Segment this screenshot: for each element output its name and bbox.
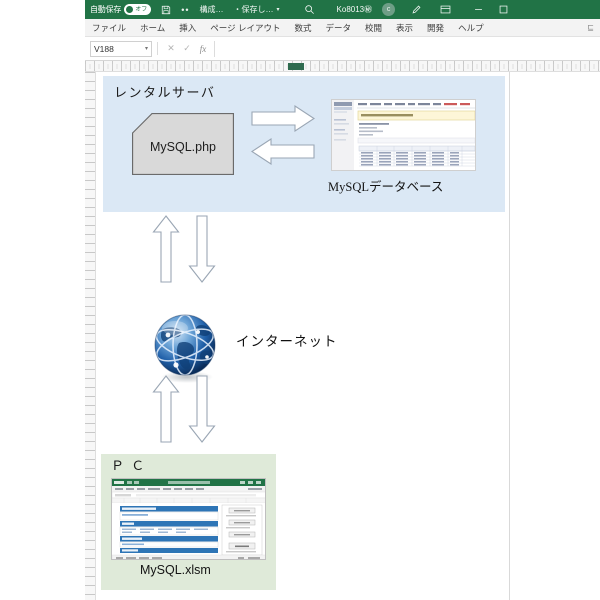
vertical-ruler[interactable]	[85, 72, 96, 600]
mysql-xlsm-label: MySQL.xlsm	[140, 563, 211, 577]
autosave-label: 自動保存	[90, 4, 121, 15]
name-box[interactable]: V188 ▾	[90, 41, 152, 57]
undo-redo-group[interactable]: ••	[176, 0, 194, 19]
document-title[interactable]: 構成…	[195, 0, 229, 19]
minimize-button[interactable]	[468, 0, 489, 19]
document-title-label: 構成…	[200, 4, 224, 15]
tab-data[interactable]: データ	[319, 19, 359, 37]
ribbon-display-options-button[interactable]	[435, 0, 456, 19]
pc-title: Ｐ Ｃ	[111, 455, 146, 474]
arrow-down[interactable]	[188, 215, 216, 283]
formula-bar-divider	[157, 42, 158, 55]
save-status-label: ・保存し…	[234, 4, 274, 15]
ink-button[interactable]	[406, 0, 427, 19]
autosave-toggle[interactable]: 自動保存 オフ	[85, 0, 156, 19]
tab-insert[interactable]: 挿入	[172, 19, 203, 37]
search-button[interactable]	[299, 0, 320, 19]
ruler-midticks	[85, 64, 600, 69]
minimize-icon	[473, 4, 484, 15]
horizontal-ruler[interactable]	[85, 61, 600, 72]
save-button[interactable]	[156, 0, 176, 19]
arrow-up[interactable]	[152, 375, 180, 443]
mysql-php-label: MySQL.php	[132, 113, 234, 175]
chevron-down-icon: ▾	[145, 45, 148, 52]
ruler-ticks	[85, 72, 96, 600]
name-box-value: V188	[94, 44, 114, 54]
formula-bar: V188 ▾ ✕ ✓ fx	[85, 37, 600, 61]
arrow-left[interactable]	[251, 138, 315, 165]
tab-file[interactable]: ファイル	[85, 19, 133, 37]
more-commands-icon: ••	[181, 5, 189, 15]
save-status[interactable]: ・保存し… ▾	[229, 0, 285, 19]
ribbon-tab-bar: ファイル ホーム 挿入 ページ レイアウト 数式 データ 校閲 表示 開発 ヘル…	[85, 19, 600, 37]
worksheet-canvas[interactable]: レンタルサーバ MySQL.php	[96, 72, 600, 600]
avatar-initial: c	[382, 3, 395, 16]
autosave-switch[interactable]: オフ	[124, 4, 151, 15]
avatar[interactable]: c	[377, 0, 400, 19]
mysql-database-screenshot[interactable]	[331, 99, 476, 171]
autosave-state: オフ	[135, 7, 147, 13]
internet-label: インターネット	[236, 330, 338, 350]
database-screenshot-graphic	[332, 100, 476, 171]
tab-review[interactable]: 校閲	[358, 19, 389, 37]
cancel-icon[interactable]: ✕	[163, 43, 179, 54]
save-icon	[161, 5, 171, 15]
title-bar: 自動保存 オフ •• 構成… ・保存し… ▾ Ko80	[85, 0, 600, 19]
tab-home[interactable]: ホーム	[133, 19, 172, 37]
arrow-right[interactable]	[251, 105, 315, 132]
search-icon	[304, 4, 315, 15]
ribbon-collapse-button[interactable]: ⊑	[587, 23, 600, 32]
account-button[interactable]: Ko8013㊙	[332, 0, 378, 19]
ribbon-display-icon	[440, 4, 451, 15]
ruler-column-highlight	[288, 63, 304, 70]
mysql-xlsm-screenshot[interactable]	[111, 478, 266, 560]
tab-page-layout[interactable]: ページ レイアウト	[203, 19, 287, 37]
arrow-down[interactable]	[188, 375, 216, 443]
restore-button[interactable]	[493, 0, 514, 19]
workbook-screenshot-graphic	[112, 479, 266, 560]
autosave-knob	[126, 6, 133, 13]
pen-icon	[411, 4, 422, 15]
enter-icon[interactable]: ✓	[179, 43, 195, 54]
tab-developer[interactable]: 開発	[420, 19, 451, 37]
arrow-up[interactable]	[152, 215, 180, 283]
rental-server-title: レンタルサーバ	[114, 82, 215, 101]
tab-view[interactable]: 表示	[389, 19, 420, 37]
mysql-database-label: MySQLデータベース	[328, 176, 443, 195]
chevron-down-icon: ▾	[277, 6, 280, 13]
insert-function-icon[interactable]: fx	[195, 44, 211, 54]
printed-page: レンタルサーバ MySQL.php	[96, 72, 510, 600]
account-name-label: Ko8013㊙	[337, 4, 373, 15]
tab-formulas[interactable]: 数式	[287, 19, 318, 37]
formula-input[interactable]	[214, 41, 595, 57]
restore-icon	[498, 4, 509, 15]
tab-help[interactable]: ヘルプ	[451, 19, 491, 37]
excel-window: 自動保存 オフ •• 構成… ・保存し… ▾ Ko80	[0, 0, 600, 600]
